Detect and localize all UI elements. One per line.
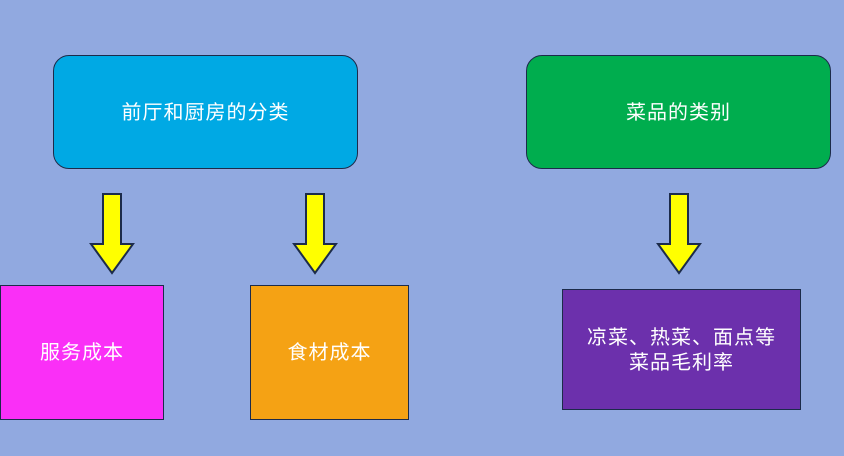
diagram-canvas: 前厅和厨房的分类 菜品的类别 服务成本 食材成本 凉菜、热菜、面点等 菜品毛利率 (0, 0, 844, 456)
diagram-node-front-kitchen-label: 前厅和厨房的分类 (122, 100, 290, 125)
diagram-node-service-cost-label: 服务成本 (40, 340, 124, 365)
diagram-node-front-kitchen[interactable]: 前厅和厨房的分类 (53, 55, 358, 169)
diagram-node-gross-margin[interactable]: 凉菜、热菜、面点等 菜品毛利率 (562, 289, 801, 410)
arrow-down-icon-to-ingredient-cost (292, 192, 338, 276)
arrow-down-icon-to-service-cost (89, 192, 135, 276)
diagram-node-dish-category[interactable]: 菜品的类别 (526, 55, 831, 169)
diagram-node-service-cost[interactable]: 服务成本 (0, 285, 164, 420)
diagram-node-gross-margin-label: 凉菜、热菜、面点等 菜品毛利率 (587, 325, 776, 375)
diagram-node-dish-category-label: 菜品的类别 (626, 100, 731, 125)
diagram-node-ingredient-cost[interactable]: 食材成本 (250, 285, 409, 420)
arrow-down-icon-to-gross-margin (656, 192, 702, 276)
diagram-node-ingredient-cost-label: 食材成本 (288, 340, 372, 365)
